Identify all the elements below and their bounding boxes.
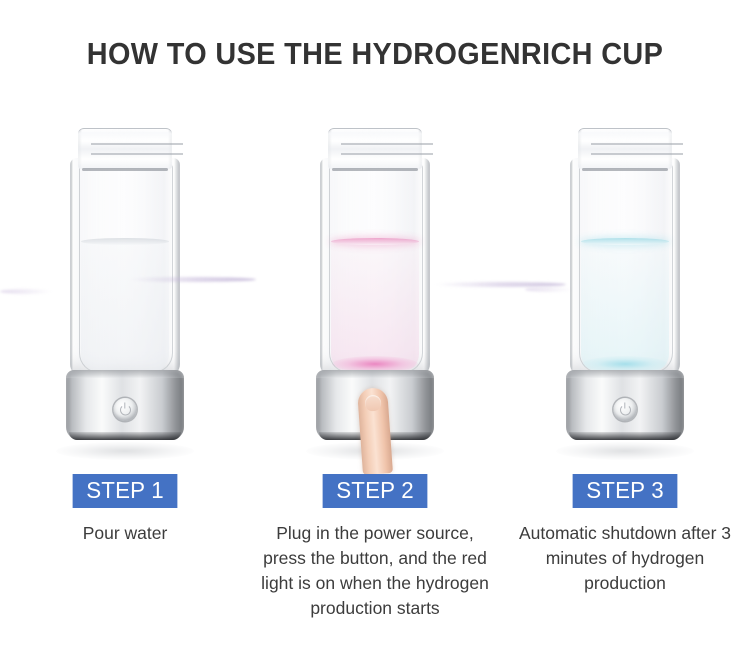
power-button[interactable]: [614, 398, 637, 421]
step-badge-3: STEP 3: [573, 474, 678, 508]
vapor-wisp-between-step1-step2-icon: [128, 277, 256, 282]
step-badge-2: STEP 2: [323, 474, 428, 508]
glass-cap: [78, 128, 172, 169]
step-column-3: STEP 3 Automatic shutdown after 3 minute…: [500, 120, 750, 656]
hydrogen-cup-bottle: [316, 126, 434, 448]
metal-base: [66, 370, 184, 440]
step-column-1: STEP 1 Pour water: [0, 120, 250, 656]
page-title: HOW TO USE THE HYDROGENRICH CUP: [26, 34, 724, 74]
cap-thread-ring: [341, 153, 433, 155]
cap-thread-ring: [591, 153, 683, 155]
glass-cap: [328, 128, 422, 169]
metal-top-rim: [316, 370, 434, 378]
water-surface-line: [331, 238, 419, 245]
hydrogen-cup-bottle: [566, 126, 684, 448]
steps-container: STEP 1 Pour water: [0, 120, 750, 656]
metal-top-rim: [66, 370, 184, 378]
pressing-finger-icon: [357, 387, 393, 475]
bottle-illustration-step-2: [250, 120, 500, 460]
water-body: [331, 241, 419, 372]
cap-thread-ring: [91, 153, 183, 155]
power-icon: [620, 404, 631, 415]
metal-base: [566, 370, 684, 440]
vapor-wisp-left-edge-icon: [0, 289, 52, 294]
step-badge-1: STEP 1: [73, 474, 178, 508]
step-caption-2: Plug in the power source, press the butt…: [258, 521, 493, 621]
metal-bottom-rim: [69, 432, 181, 440]
power-button[interactable]: [114, 398, 137, 421]
cap-thread-ring: [341, 143, 433, 145]
power-icon: [120, 404, 131, 415]
metal-top-rim: [566, 370, 684, 378]
metal-bottom-rim: [569, 432, 681, 440]
hydrogen-cup-bottle: [66, 126, 184, 448]
cap-thread-ring: [91, 143, 183, 145]
water-surface-line: [81, 238, 169, 245]
cap-neck-seam: [582, 168, 668, 171]
cap-neck-seam: [82, 168, 168, 171]
water-surface-line: [581, 238, 669, 245]
step-caption-1: Pour water: [8, 521, 243, 546]
cap-thread-ring: [591, 143, 683, 145]
cap-neck-seam: [332, 168, 418, 171]
vapor-wisp-right-icon: [525, 287, 573, 292]
water-body: [581, 241, 669, 372]
step-column-2: STEP 2 Plug in the power source, press t…: [250, 120, 500, 656]
glass-cap: [578, 128, 672, 169]
water-body: [81, 241, 169, 372]
fingernail: [365, 395, 382, 412]
step-caption-3: Automatic shutdown after 3 minutes of hy…: [508, 521, 743, 596]
